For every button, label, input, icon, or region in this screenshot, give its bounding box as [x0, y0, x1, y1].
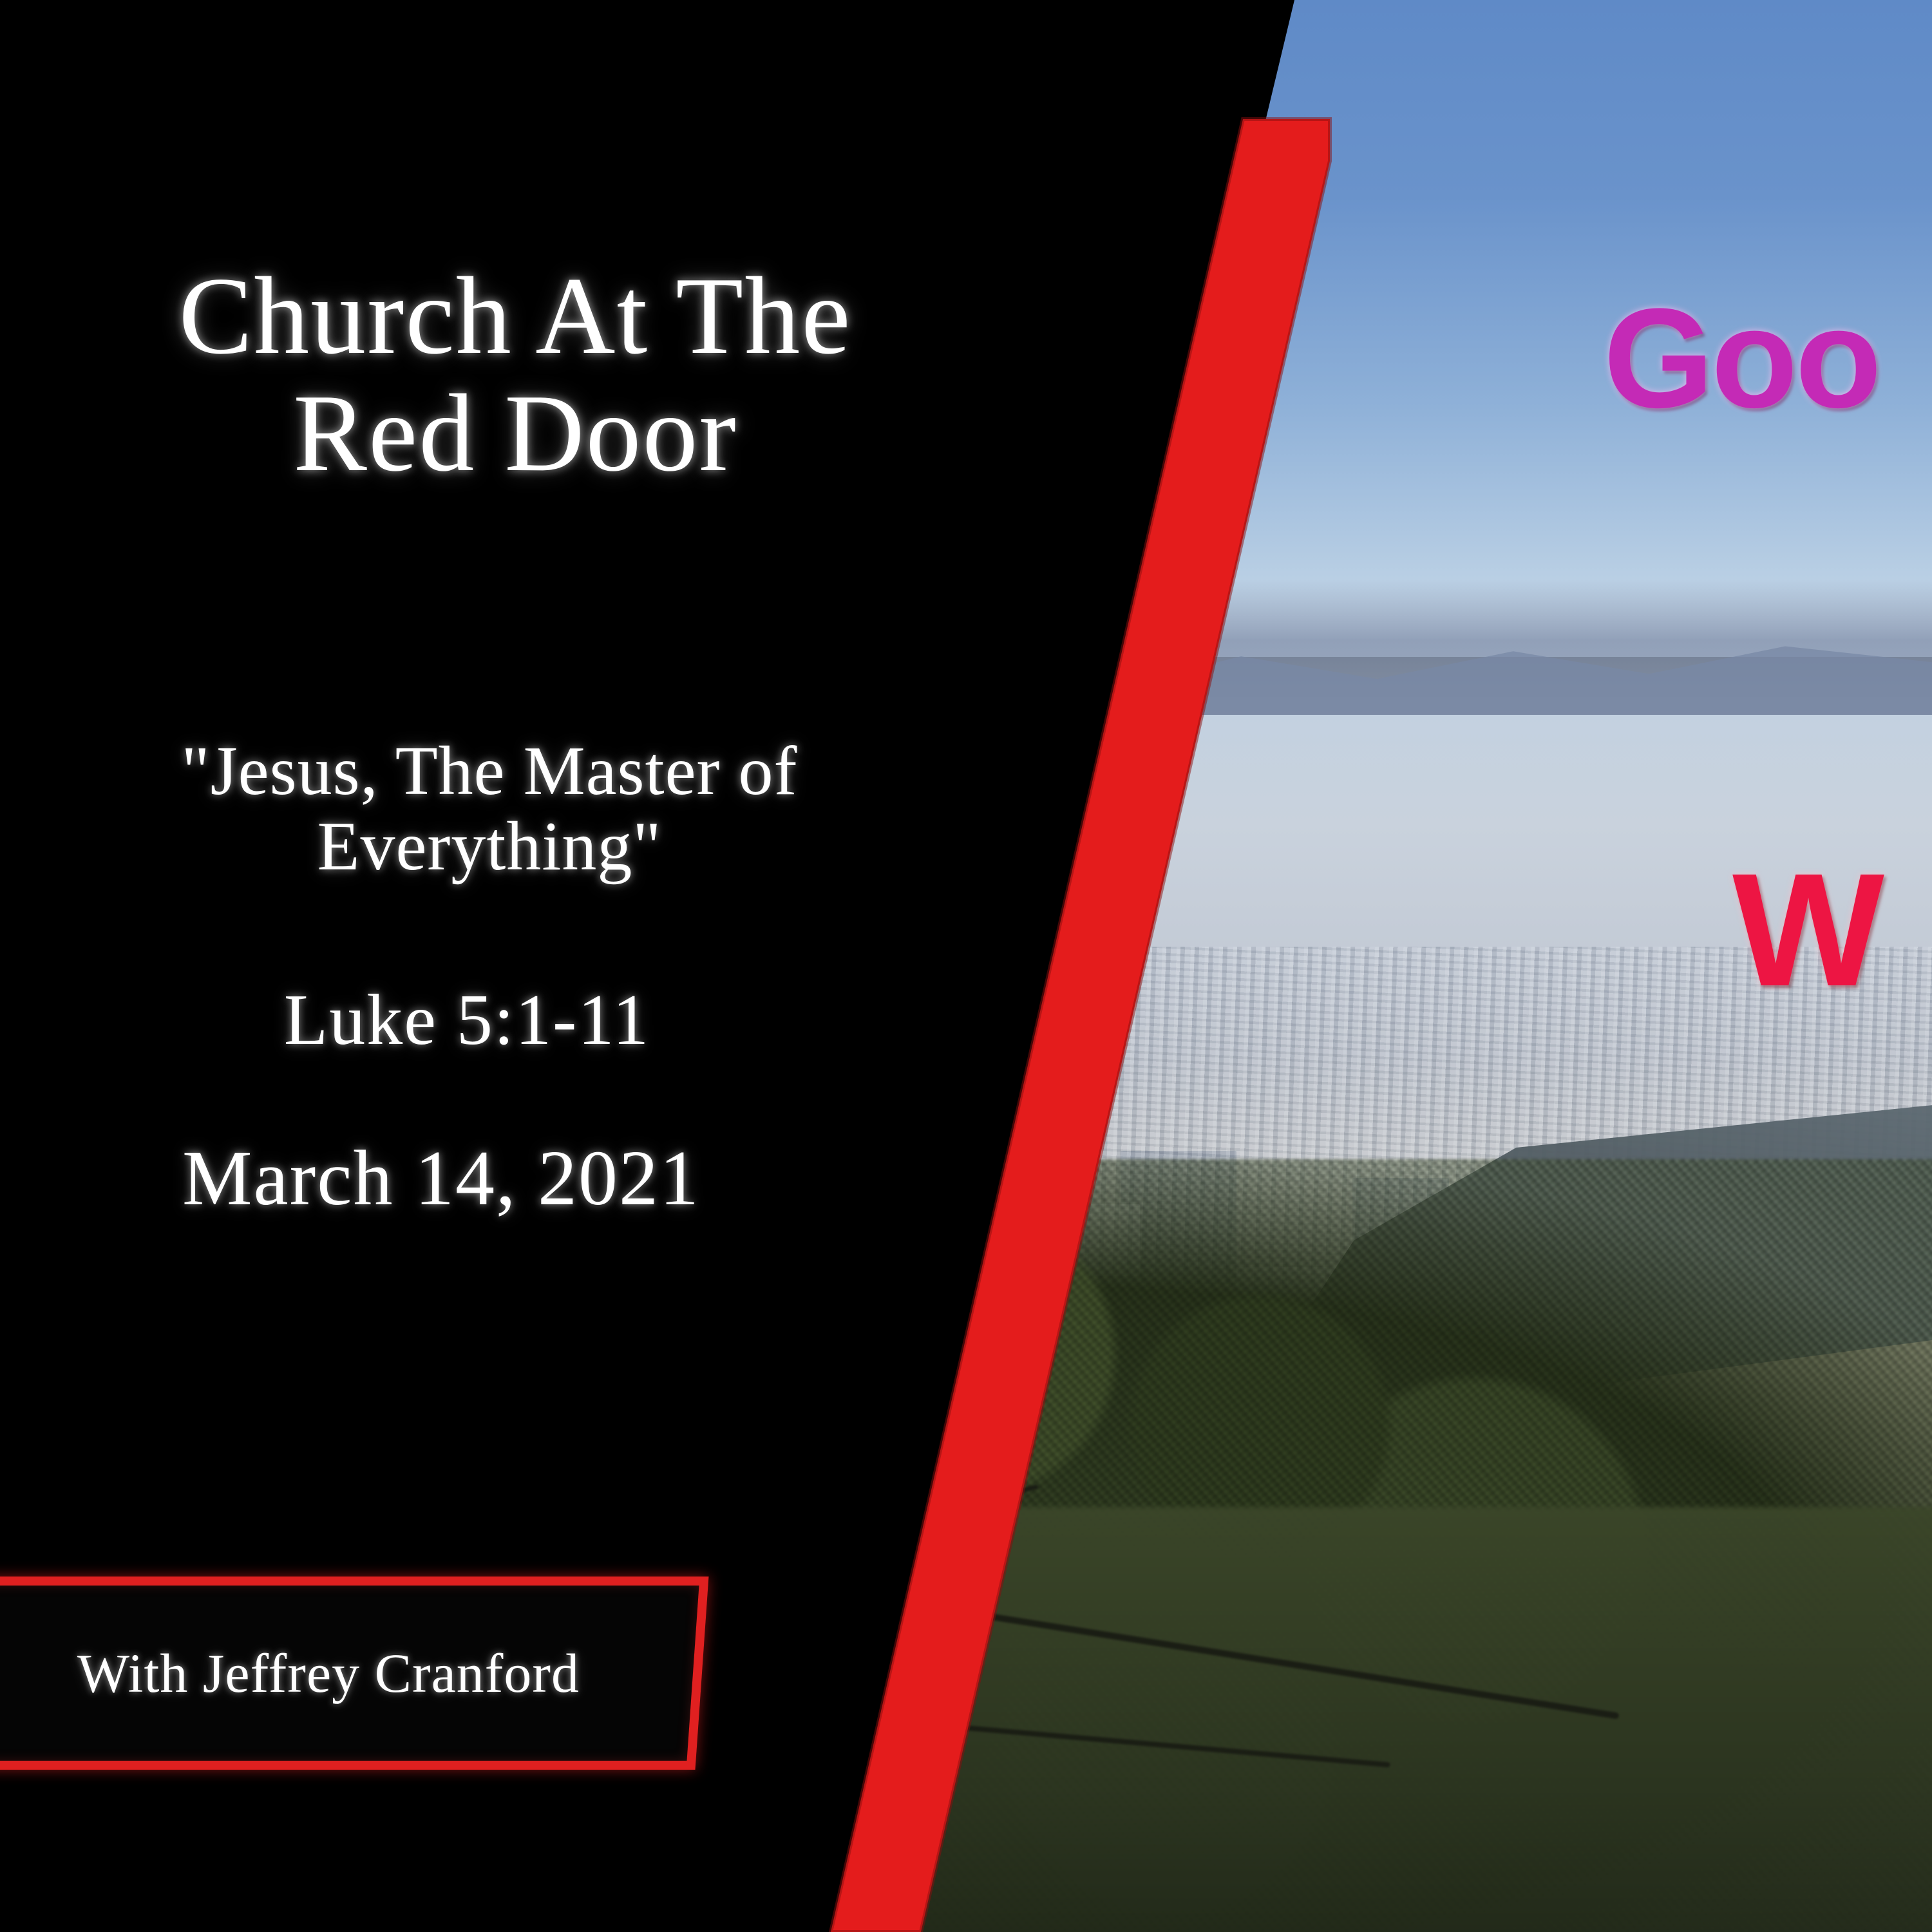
- overlay-word-good: Goo: [1604, 277, 1879, 440]
- church-name: Church At The Red Door: [39, 258, 992, 493]
- scripture-reference: Luke 5:1-11: [39, 979, 895, 1062]
- sermon-title-slide: Goo W Church At The Red Door "Jesus, The…: [0, 0, 1932, 1932]
- overlay-word-w: W: [1732, 837, 1880, 1022]
- church-name-line1: Church At The: [39, 258, 992, 375]
- sermon-date: March 14, 2021: [26, 1133, 857, 1224]
- sermon-title: "Jesus, The Master of Everything": [39, 734, 940, 884]
- speaker-credit-box: With Jeffrey Cranford: [0, 1577, 702, 1770]
- church-name-line2: Red Door: [39, 375, 992, 492]
- speaker-credit-label: With Jeffrey Cranford: [0, 1641, 702, 1705]
